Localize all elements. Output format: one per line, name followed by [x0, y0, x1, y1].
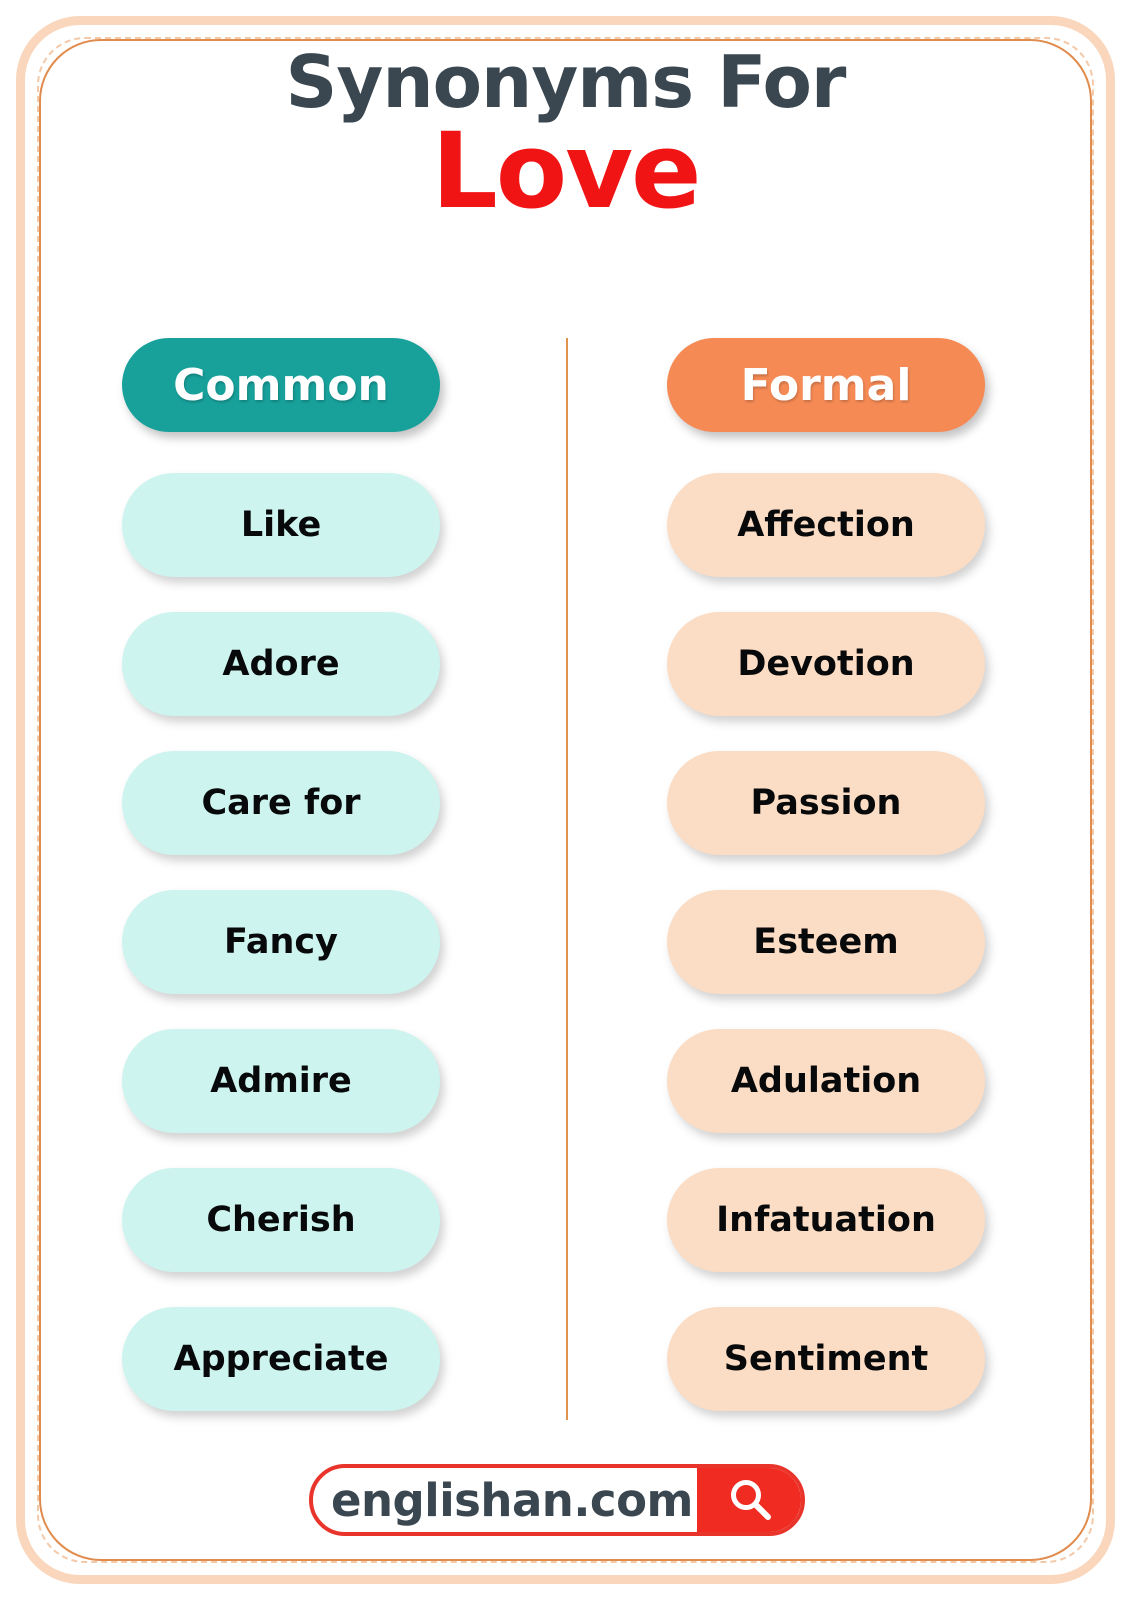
footer-logo[interactable]: englishan.com [309, 1464, 805, 1536]
column-divider [566, 338, 568, 1420]
word-pill[interactable]: Appreciate [122, 1307, 440, 1411]
page-title: Synonyms For Love [0, 46, 1131, 228]
word-list-common: Like Adore Care for Fancy Admire Cherish… [122, 473, 440, 1411]
word-pill[interactable]: Devotion [667, 612, 985, 716]
word-pill[interactable]: Infatuation [667, 1168, 985, 1272]
word-pill[interactable]: Like [122, 473, 440, 577]
word-pill[interactable]: Esteem [667, 890, 985, 994]
word-pill[interactable]: Sentiment [667, 1307, 985, 1411]
infographic-page: Synonyms For Love Common Like Adore Care… [0, 0, 1131, 1600]
word-pill[interactable]: Cherish [122, 1168, 440, 1272]
title-line-primary: Synonyms For [0, 46, 1131, 119]
column-common: Common Like Adore Care for Fancy Admire … [122, 338, 440, 1411]
word-pill[interactable]: Fancy [122, 890, 440, 994]
word-pill[interactable]: Adore [122, 612, 440, 716]
column-header-common-label: Common [173, 360, 389, 411]
search-icon [725, 1474, 777, 1526]
word-pill[interactable]: Adulation [667, 1029, 985, 1133]
column-header-formal-label: Formal [741, 360, 912, 411]
title-line-keyword: Love [0, 115, 1131, 227]
search-icon-container[interactable] [697, 1468, 805, 1532]
brand-pill[interactable]: englishan.com [309, 1464, 805, 1536]
column-header-formal: Formal [667, 338, 985, 432]
word-list-formal: Affection Devotion Passion Esteem Adulat… [667, 473, 985, 1411]
word-pill[interactable]: Passion [667, 751, 985, 855]
brand-name: englishan.com [313, 1474, 697, 1527]
column-formal: Formal Affection Devotion Passion Esteem… [667, 338, 985, 1411]
word-pill[interactable]: Admire [122, 1029, 440, 1133]
word-pill[interactable]: Affection [667, 473, 985, 577]
word-pill[interactable]: Care for [122, 751, 440, 855]
column-header-common: Common [122, 338, 440, 432]
